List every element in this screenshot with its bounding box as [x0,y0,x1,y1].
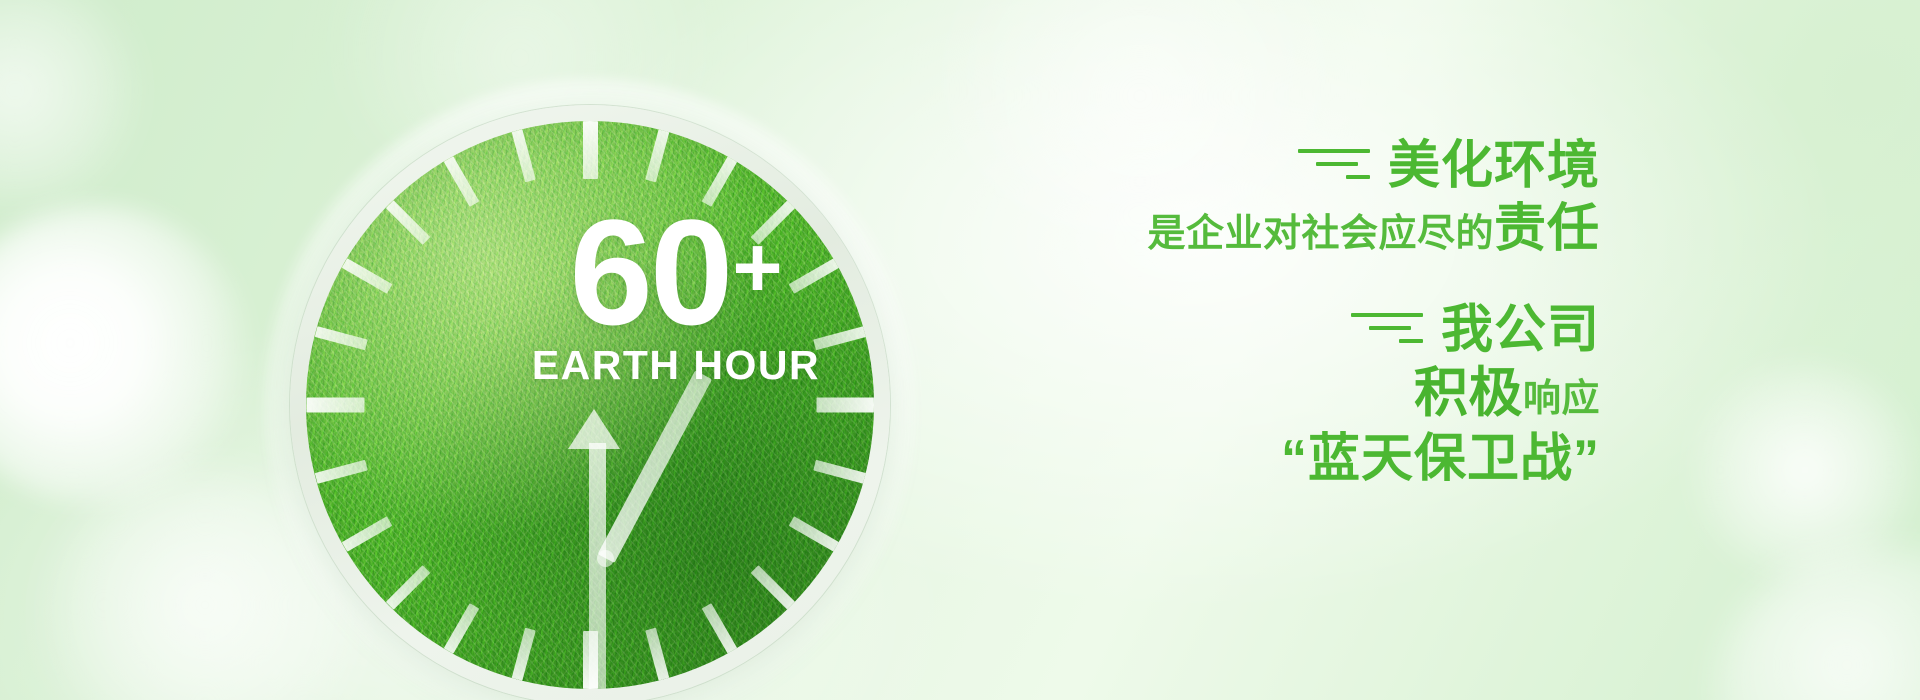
slogan-two-quote: “蓝天保卫战” [1100,430,1600,488]
clock-tick [816,398,874,413]
slogan-two-headline-row: 我公司 [1100,304,1600,356]
short-rule-icon [1346,175,1370,179]
clock-tick [583,121,598,179]
clock-tick [385,565,430,610]
earth-hour-plus-symbol: + [732,220,782,316]
clock-tick [385,200,430,245]
clock-tick [511,129,535,182]
slogan-copy: 美化环境 是企业对社会应尽的责任 我公司 积极响应 “蓝天保卫战” [1100,140,1600,488]
slogan-two-headline: 我公司 [1441,304,1600,356]
slogan-two-subline-text: 响应 [1523,378,1600,420]
earth-hour-lockup: 60+ EARTH HOUR [511,206,841,389]
slogan-one-subline-accent: 责任 [1494,200,1600,258]
clock-tick [701,603,737,654]
slogan-block-two: 我公司 积极响应 “蓝天保卫战” [1100,304,1600,488]
medium-rule-icon [1369,326,1411,330]
earth-hour-subtitle: EARTH HOUR [511,342,841,389]
clock-tick [813,460,866,484]
clock-tick [511,628,535,681]
clock-grass-face: 60+ EARTH HOUR [306,121,874,689]
decorative-rule-stack-two [1351,313,1423,347]
earth-hour-clock-graphic: 60+ EARTH HOUR [290,105,890,700]
clock-tick [306,398,364,413]
slogan-one-subline-text: 是企业对社会应尽的 [1147,213,1494,255]
clock-tick [750,565,795,610]
clock-tick [341,516,392,552]
earth-hour-banner: 60+ EARTH HOUR 美化环境 是企业对社会应尽的责任 [0,0,1920,700]
slogan-one-subline: 是企业对社会应尽的责任 [1100,200,1600,260]
slogan-one-headline: 美化环境 [1388,140,1600,192]
clock-tick [788,516,839,552]
earth-hour-number-group: 60+ [569,206,782,338]
slogan-block-one: 美化环境 是企业对社会应尽的责任 [1100,140,1600,260]
clock-tick [314,326,367,350]
slogan-two-subline: 积极响应 [1100,362,1600,426]
slogan-two-subline-accent: 积极 [1414,363,1523,423]
long-rule-icon [1351,313,1423,317]
long-rule-icon [1298,149,1370,153]
decorative-rule-stack [1298,149,1370,183]
clock-tick [314,460,367,484]
clock-center-hub [597,550,614,567]
slogan-one-headline-row: 美化环境 [1100,140,1600,192]
clock-tick [645,628,669,681]
medium-rule-icon [1316,162,1358,166]
clock-tick [645,129,669,182]
earth-hour-number: 60 [569,188,730,356]
clock-tick [341,258,392,294]
clock-tick [443,603,479,654]
clock-tick [443,156,479,207]
short-rule-icon [1399,339,1423,343]
